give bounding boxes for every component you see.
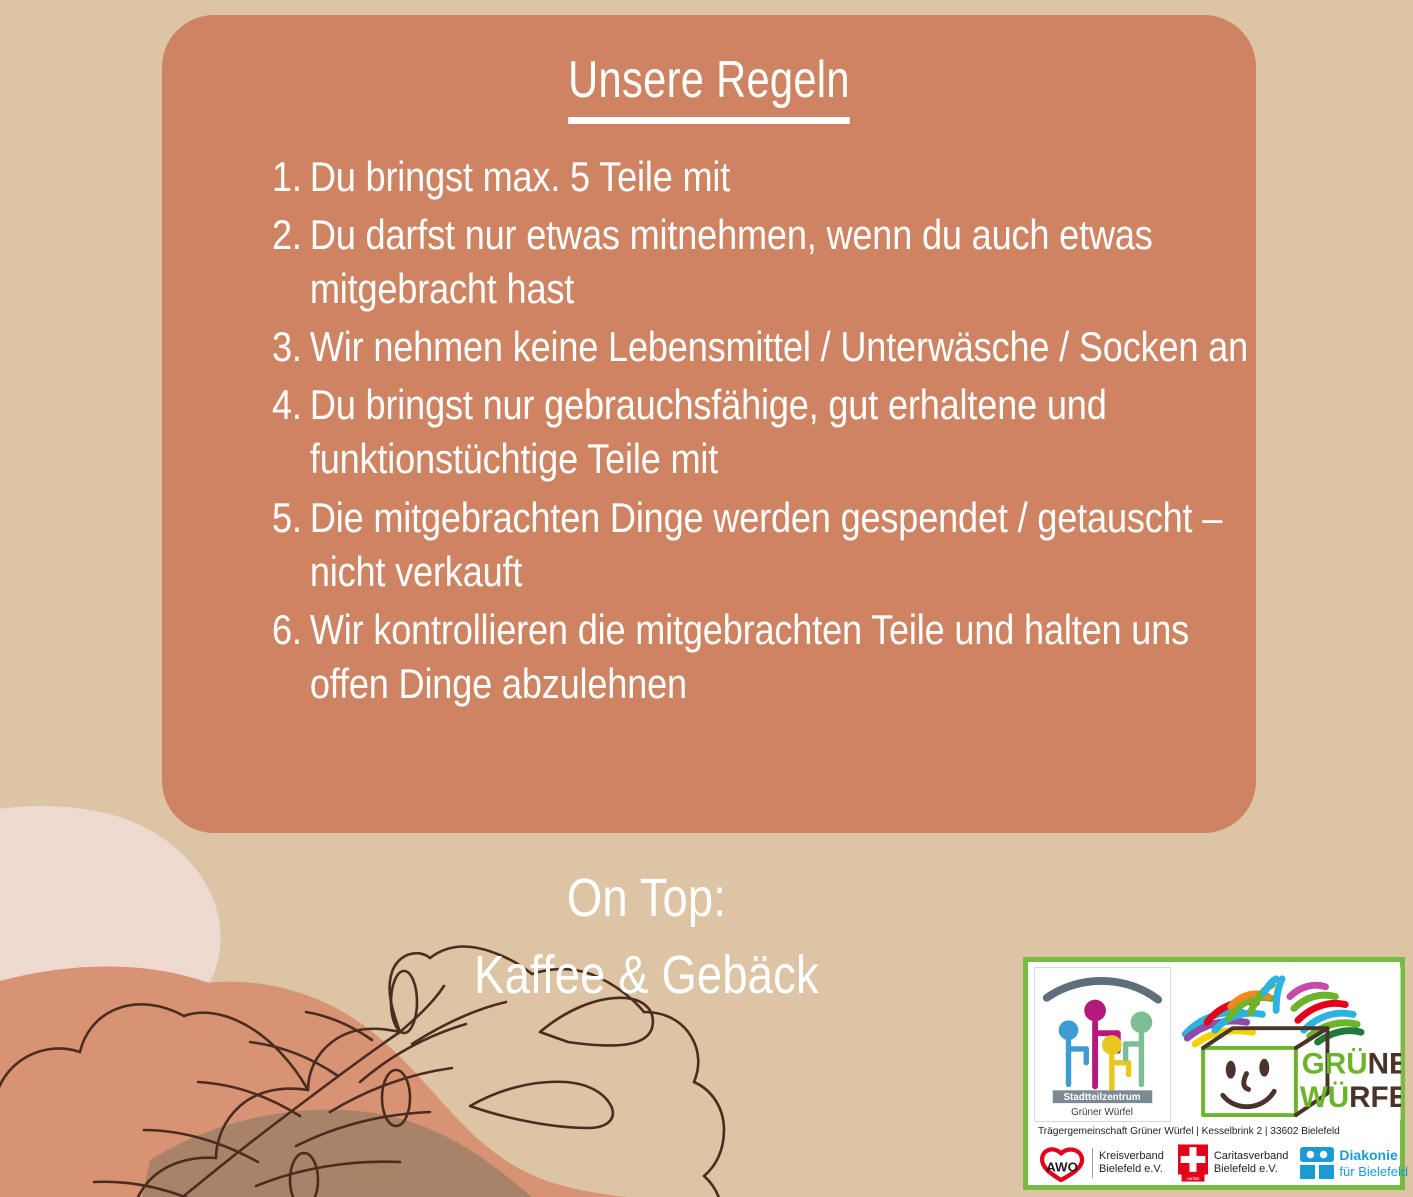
partner-awo-label: Kreisverband Bielefeld e.V. (1099, 1150, 1164, 1176)
rule-number: 6. (272, 603, 308, 657)
partner-diakonie-label-line1: Diakonie (1339, 1147, 1408, 1164)
rule-text: Die mitgebrachten Dinge werden gespendet… (310, 494, 1222, 595)
rule-number: 2. (272, 208, 308, 262)
page-title-text: Unsere Regeln (568, 53, 850, 124)
partner-awo-label-line2: Bielefeld e.V. (1099, 1163, 1164, 1176)
stz-name-line2: Grüner Würfel (1071, 1107, 1133, 1118)
figure-head-blue (1059, 1020, 1079, 1040)
logo-top-row: Stadtteilzentrum Grüner Würfel (1034, 967, 1394, 1124)
rule-item: 4. Du bringst nur gebrauchsfähige, gut e… (272, 378, 1252, 486)
partner-caritas-label-line1: Caritasverband (1214, 1150, 1289, 1163)
partner-diakonie: Diakonie für Bielefeld (1300, 1141, 1408, 1185)
on-top-heading: On Top: (3, 860, 1291, 937)
partner-diakonie-label: Diakonie für Bielefeld (1339, 1147, 1408, 1179)
rules-list: 1. Du bringst max. 5 Teile mit 2. Du dar… (202, 150, 1216, 712)
rule-text: Wir nehmen keine Lebensmittel / Unterwäs… (310, 323, 1248, 370)
svg-text:AWO: AWO (1046, 1160, 1078, 1175)
rule-item: 1. Du bringst max. 5 Teile mit (272, 150, 1252, 204)
rule-text: Du bringst nur gebrauchsfähige, gut erha… (310, 381, 1107, 482)
rule-number: 5. (272, 491, 308, 545)
awo-logo-icon: AWO (1038, 1144, 1088, 1182)
blob-brown-shape (120, 1110, 600, 1197)
diakonie-logo-icon (1300, 1147, 1334, 1179)
gw-wordmark-line1: GRÜNER (1302, 1048, 1401, 1081)
gruener-wuerfel-logo: GRÜNER WÜRFEL (1171, 967, 1401, 1122)
rule-item: 5. Die mitgebrachten Dinge werden gespen… (272, 491, 1252, 599)
partner-awo: AWO Kreisverband Bielefeld e.V. (1038, 1141, 1164, 1185)
partner-caritas: caritas Caritasverband Bielefeld e.V. (1178, 1141, 1289, 1185)
partner-caritas-label: Caritasverband Bielefeld e.V. (1214, 1150, 1289, 1176)
rule-text: Du bringst max. 5 Teile mit (310, 153, 730, 200)
gw-wordmark-line2: WÜRFEL (1300, 1081, 1401, 1114)
caritas-logo-icon: caritas (1178, 1144, 1208, 1182)
rules-card: Unsere Regeln 1. Du bringst max. 5 Teile… (162, 15, 1256, 833)
blob-terracotta-shape-2 (100, 982, 830, 1197)
partner-awo-label-line1: Kreisverband (1099, 1150, 1164, 1163)
rule-text: Wir kontrollieren die mitgebrachten Teil… (310, 606, 1189, 707)
figure-head-yellow (1102, 1035, 1122, 1055)
rule-text: Du darfst nur etwas mitnehmen, wenn du a… (310, 211, 1153, 312)
partner-divider (1092, 1148, 1093, 1178)
figure-head-magenta (1084, 1000, 1106, 1022)
stz-name-line1: Stadtteilzentrum (1063, 1092, 1140, 1103)
partner-diakonie-label-line2: für Bielefeld (1339, 1164, 1408, 1179)
rule-number: 4. (272, 378, 308, 432)
page-title: Unsere Regeln (303, 53, 1114, 124)
rule-item: 3. Wir nehmen keine Lebensmittel / Unter… (272, 320, 1252, 374)
svg-text:caritas: caritas (1186, 1176, 1200, 1181)
logo-panel: Stadtteilzentrum Grüner Würfel (1023, 957, 1405, 1190)
partner-logos-row: AWO Kreisverband Bielefeld e.V. (1034, 1140, 1394, 1186)
rule-number: 1. (272, 150, 308, 204)
rule-item: 6. Wir kontrollieren die mitgebrachten T… (272, 603, 1252, 711)
rule-item: 2. Du darfst nur etwas mitnehmen, wenn d… (272, 208, 1252, 316)
imprint-text: Trägergemeinschaft Grüner Würfel | Kesse… (1034, 1124, 1394, 1140)
partner-caritas-label-line2: Bielefeld e.V. (1214, 1163, 1289, 1176)
stadtteilzentrum-logo: Stadtteilzentrum Grüner Würfel (1034, 967, 1171, 1122)
poster-canvas: Unsere Regeln 1. Du bringst max. 5 Teile… (0, 0, 1413, 1197)
figure-head-green (1131, 1011, 1153, 1033)
rule-number: 3. (272, 320, 308, 374)
